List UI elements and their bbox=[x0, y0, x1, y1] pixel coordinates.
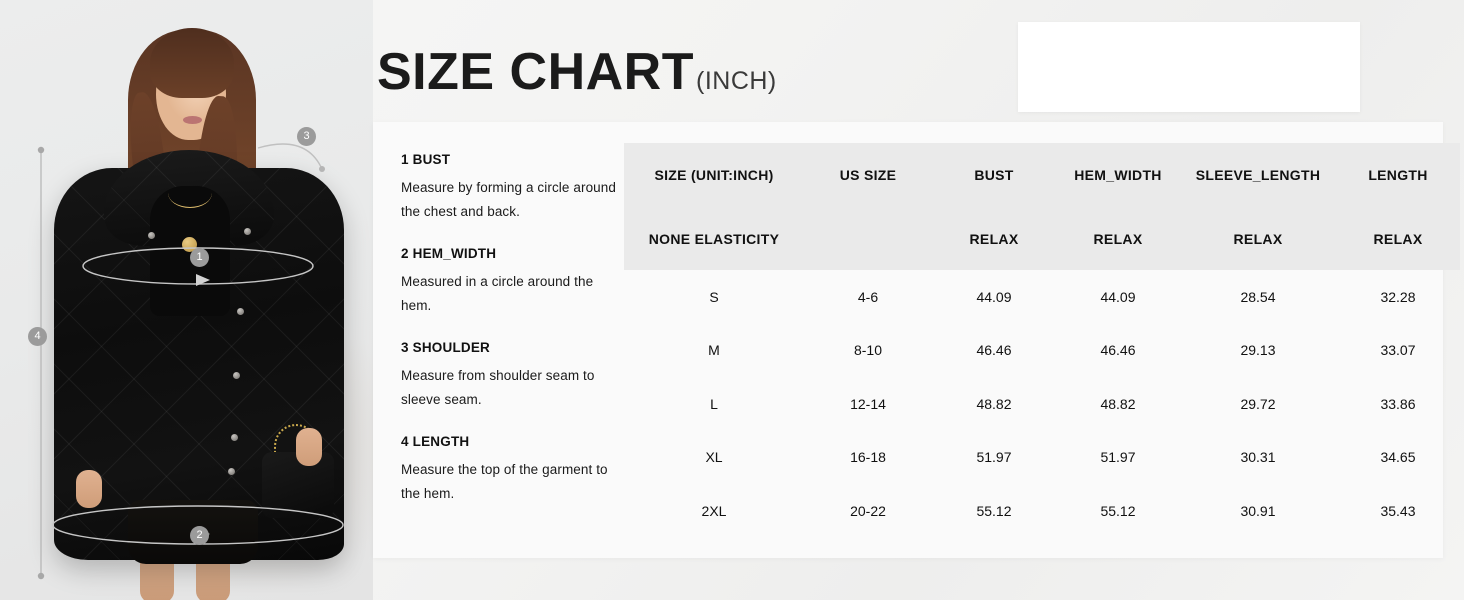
logo-placeholder bbox=[1018, 22, 1360, 112]
size-table: SIZE (UNIT:INCH) US SIZE BUST HEM_WIDTH … bbox=[624, 143, 1460, 538]
snap-button bbox=[148, 232, 155, 239]
size-table-body: S 4-6 44.09 44.09 28.54 32.28 M 8-10 46.… bbox=[624, 270, 1460, 538]
cell-hem-width: 46.46 bbox=[1056, 324, 1180, 378]
cell-size: S bbox=[624, 270, 804, 324]
cell-us-size: 4-6 bbox=[804, 270, 932, 324]
snap-button bbox=[233, 372, 240, 379]
cell-size: 2XL bbox=[624, 484, 804, 538]
measure-marker-1: 1 bbox=[190, 248, 209, 267]
size-table-wrapper: SIZE (UNIT:INCH) US SIZE BUST HEM_WIDTH … bbox=[624, 143, 1430, 538]
cell-bust: 46.46 bbox=[932, 324, 1056, 378]
subheader-elasticity: NONE ELASTICITY bbox=[624, 207, 804, 270]
cell-size: XL bbox=[624, 431, 804, 485]
cell-sleeve-length: 30.31 bbox=[1180, 431, 1336, 485]
hand-left bbox=[76, 470, 102, 508]
cell-hem-width: 55.12 bbox=[1056, 484, 1180, 538]
measure-marker-3: 3 bbox=[297, 127, 316, 146]
subheader-sleeve-length: RELAX bbox=[1180, 207, 1336, 270]
snap-button bbox=[231, 434, 238, 441]
guide-item-shoulder: 3 SHOULDER Measure from shoulder seam to… bbox=[401, 340, 626, 412]
cell-us-size: 12-14 bbox=[804, 377, 932, 431]
subheader-length: RELAX bbox=[1336, 207, 1460, 270]
guide-item-length: 4 LENGTH Measure the top of the garment … bbox=[401, 434, 626, 506]
header-size: SIZE (UNIT:INCH) bbox=[624, 143, 804, 207]
hair-top bbox=[150, 28, 234, 98]
cell-sleeve-length: 29.13 bbox=[1180, 324, 1336, 378]
header-us-size: US SIZE bbox=[804, 143, 932, 207]
cell-us-size: 8-10 bbox=[804, 324, 932, 378]
table-row: 2XL 20-22 55.12 55.12 30.91 35.43 bbox=[624, 484, 1460, 538]
snap-button bbox=[228, 468, 235, 475]
header-length: LENGTH bbox=[1336, 143, 1460, 207]
measure-marker-4: 4 bbox=[28, 327, 47, 346]
hand-right bbox=[296, 428, 322, 466]
size-chart-panel: 1 BUST Measure by forming a circle aroun… bbox=[373, 122, 1443, 558]
guide-title: 1 BUST bbox=[401, 152, 626, 167]
size-chart-page: 1 2 3 4 SIZE CHART (INCH) 1 BUST Measure… bbox=[0, 0, 1464, 600]
guide-description: Measure from shoulder seam to sleeve sea… bbox=[401, 364, 626, 412]
model-figure bbox=[0, 0, 373, 600]
cell-length: 34.65 bbox=[1336, 431, 1460, 485]
table-row: L 12-14 48.82 48.82 29.72 33.86 bbox=[624, 377, 1460, 431]
cell-sleeve-length: 30.91 bbox=[1180, 484, 1336, 538]
cell-sleeve-length: 28.54 bbox=[1180, 270, 1336, 324]
page-title: SIZE CHART (INCH) bbox=[377, 42, 777, 102]
table-row: XL 16-18 51.97 51.97 30.31 34.65 bbox=[624, 431, 1460, 485]
guide-description: Measure by forming a circle around the c… bbox=[401, 176, 626, 224]
subheader-hem-width: RELAX bbox=[1056, 207, 1180, 270]
snap-button bbox=[244, 228, 251, 235]
guide-title: 3 SHOULDER bbox=[401, 340, 626, 355]
cell-sleeve-length: 29.72 bbox=[1180, 377, 1336, 431]
table-row: S 4-6 44.09 44.09 28.54 32.28 bbox=[624, 270, 1460, 324]
subheader-us-size bbox=[804, 207, 932, 270]
guide-item-bust: 1 BUST Measure by forming a circle aroun… bbox=[401, 152, 626, 224]
cell-us-size: 20-22 bbox=[804, 484, 932, 538]
cell-bust: 44.09 bbox=[932, 270, 1056, 324]
cell-length: 33.07 bbox=[1336, 324, 1460, 378]
cell-size: L bbox=[624, 377, 804, 431]
measurement-guide: 1 BUST Measure by forming a circle aroun… bbox=[401, 152, 626, 506]
guide-description: Measure the top of the garment to the he… bbox=[401, 458, 626, 506]
guide-title: 2 HEM_WIDTH bbox=[401, 246, 626, 261]
necklace bbox=[168, 178, 212, 208]
cell-hem-width: 44.09 bbox=[1056, 270, 1180, 324]
table-header-row: SIZE (UNIT:INCH) US SIZE BUST HEM_WIDTH … bbox=[624, 143, 1460, 207]
page-title-unit: (INCH) bbox=[696, 67, 777, 96]
guide-item-hem-width: 2 HEM_WIDTH Measured in a circle around … bbox=[401, 246, 626, 318]
guide-title: 4 LENGTH bbox=[401, 434, 626, 449]
page-title-main: SIZE CHART bbox=[377, 42, 694, 102]
lips bbox=[183, 116, 202, 124]
cell-length: 35.43 bbox=[1336, 484, 1460, 538]
cell-bust: 48.82 bbox=[932, 377, 1056, 431]
table-row: M 8-10 46.46 46.46 29.13 33.07 bbox=[624, 324, 1460, 378]
table-subheader-row: NONE ELASTICITY RELAX RELAX RELAX RELAX bbox=[624, 207, 1460, 270]
cell-bust: 51.97 bbox=[932, 431, 1056, 485]
snap-button bbox=[237, 308, 244, 315]
measure-marker-2: 2 bbox=[190, 526, 209, 545]
subheader-bust: RELAX bbox=[932, 207, 1056, 270]
cell-size: M bbox=[624, 324, 804, 378]
cell-hem-width: 51.97 bbox=[1056, 431, 1180, 485]
header-sleeve-length: SLEEVE_LENGTH bbox=[1180, 143, 1336, 207]
guide-description: Measured in a circle around the hem. bbox=[401, 270, 626, 318]
model-photo: 1 2 3 4 bbox=[0, 0, 373, 600]
size-table-head: SIZE (UNIT:INCH) US SIZE BUST HEM_WIDTH … bbox=[624, 143, 1460, 270]
header-hem-width: HEM_WIDTH bbox=[1056, 143, 1180, 207]
cell-length: 32.28 bbox=[1336, 270, 1460, 324]
cell-length: 33.86 bbox=[1336, 377, 1460, 431]
header-bust: BUST bbox=[932, 143, 1056, 207]
cell-us-size: 16-18 bbox=[804, 431, 932, 485]
cell-bust: 55.12 bbox=[932, 484, 1056, 538]
cell-hem-width: 48.82 bbox=[1056, 377, 1180, 431]
